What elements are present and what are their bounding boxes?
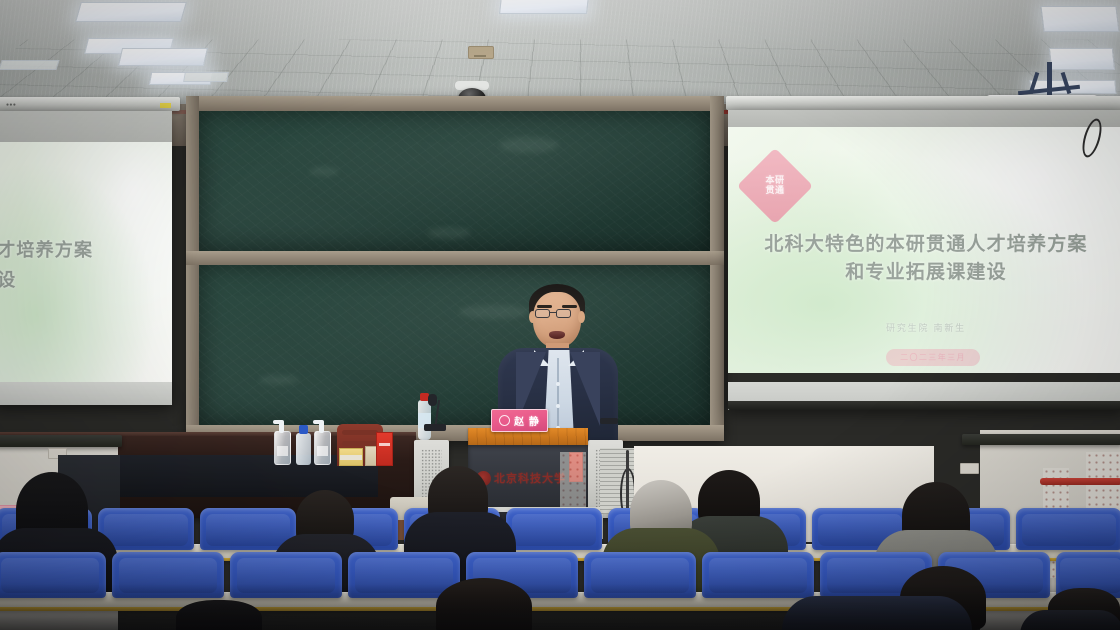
chalkboard-panel-upper [199, 111, 710, 251]
left-screen-warning-tag [160, 103, 171, 108]
left-screen-projected-area: 人才培养方案 建设 [0, 142, 172, 382]
chalk-smudge [427, 227, 471, 239]
bottle-cap-icon [299, 425, 308, 434]
bottle-label [317, 446, 328, 456]
chalk-smudge [459, 305, 529, 319]
right-screen-projected-area: 本研 贯通 北科大特色的本研贯通人才培养方案 和专业拓展课建设 研究生院 南新生… [728, 127, 1120, 373]
right-wall-rail [962, 434, 1120, 445]
left-screen-housing: ●●● [0, 97, 180, 111]
left-slide-title-line1: 人才培养方案 [0, 238, 154, 263]
right-projection-screen: 本研 贯通 北科大特色的本研贯通人才培养方案 和专业拓展课建设 研究生院 南新生… [728, 110, 1120, 410]
glasses-lens-left [535, 309, 550, 318]
ceiling-light-panel [75, 2, 187, 22]
right-screen-gray-band [728, 110, 1120, 127]
water-bottle [418, 400, 431, 440]
chalkboard-frame-top [186, 96, 724, 111]
yellow-box [339, 448, 363, 466]
acoustic-perforated-panel [560, 452, 586, 514]
suit-lapel-right [570, 352, 600, 426]
speaker-nameplate: 赵 静 [491, 409, 548, 432]
left-slide-title-line2: 建设 [0, 268, 154, 293]
speaker-face [533, 292, 581, 348]
glasses-lens-right [556, 309, 571, 318]
wall-conduit [626, 450, 629, 512]
microphone-secondary [600, 418, 618, 424]
slide-title-line2: 和专业拓展课建设 [736, 260, 1116, 286]
sanitizer-pump-icon [319, 421, 324, 433]
ceiling-light-panel [1040, 6, 1119, 32]
chalk-smudge [259, 375, 299, 385]
left-slide-content: 人才培养方案 建设 [0, 142, 172, 382]
box-band [340, 455, 362, 460]
speaker-glasses-icon [535, 309, 580, 318]
microphone-base [424, 424, 446, 431]
nameplate-seal-icon [499, 415, 510, 426]
left-screen-housing-label: ●●● [6, 102, 16, 108]
speaker-eyebrow-left [537, 305, 552, 308]
chalkboard-panel-lower [199, 265, 710, 425]
podium-emblem-text: 北京科技大学 [494, 470, 566, 486]
chalkboard-frame-right [710, 96, 724, 441]
chalkboard-frame-left [186, 96, 199, 441]
speaker-eyebrow-right [562, 305, 577, 308]
left-screen-bottom-band [0, 382, 172, 405]
shirt-button [556, 404, 560, 408]
shirt-button [556, 382, 560, 386]
red-pipe [1040, 478, 1120, 485]
foreground-shadow [0, 584, 1120, 630]
slide-date-pill: 二〇二三年三月 [886, 349, 980, 366]
slide-title-line1: 北科大特色的本研贯通人才培养方案 [736, 232, 1116, 258]
ceiling-light-panel [183, 72, 229, 82]
slide-badge-line2: 贯通 [765, 186, 784, 196]
nameplate-name-text: 赵 静 [514, 413, 540, 428]
auditorium-seat [1016, 508, 1120, 550]
slide-badge-text: 本研 贯通 [748, 159, 802, 213]
hand-sanitizer-bottle [314, 431, 331, 465]
ceiling-light-panel [118, 48, 208, 66]
lecture-hall-photo: EPSON ●●● 人才培养方案 建设 [0, 0, 1120, 630]
auditorium-seat [506, 508, 602, 550]
microphone-head [428, 394, 437, 406]
left-wall-rail [0, 435, 122, 447]
left-screen-gray-band [0, 111, 172, 142]
ceiling-light-panel [499, 0, 589, 14]
left-projection-screen: 人才培养方案 建设 [0, 111, 172, 405]
wall-jack-plate [960, 463, 979, 474]
slide-subtitle: 研究生院 南新生 [736, 321, 1116, 334]
blue-cap-bottle [296, 433, 311, 465]
hand-sanitizer-bottle [274, 431, 291, 465]
chalk-smudge [499, 137, 559, 153]
chalkboard-frame-middle [186, 251, 724, 265]
red-box [376, 432, 393, 466]
chair-slat [342, 430, 378, 435]
ceiling-light-panel [1049, 48, 1115, 70]
speaker-mouth [549, 331, 565, 339]
slide-content: 本研 贯通 北科大特色的本研贯通人才培养方案 和专业拓展课建设 研究生院 南新生… [728, 127, 1120, 373]
sanitizer-pump-icon [279, 421, 284, 433]
bottle-label [277, 446, 288, 456]
chalk-smudge [309, 167, 339, 176]
ceiling-light-panel [0, 60, 60, 70]
ceiling-utility-box [468, 46, 494, 59]
box-stripe [379, 443, 390, 446]
right-screen-housing [726, 96, 1120, 110]
right-screen-weight-bar [728, 401, 1120, 410]
chalkboard-assembly [186, 96, 724, 441]
